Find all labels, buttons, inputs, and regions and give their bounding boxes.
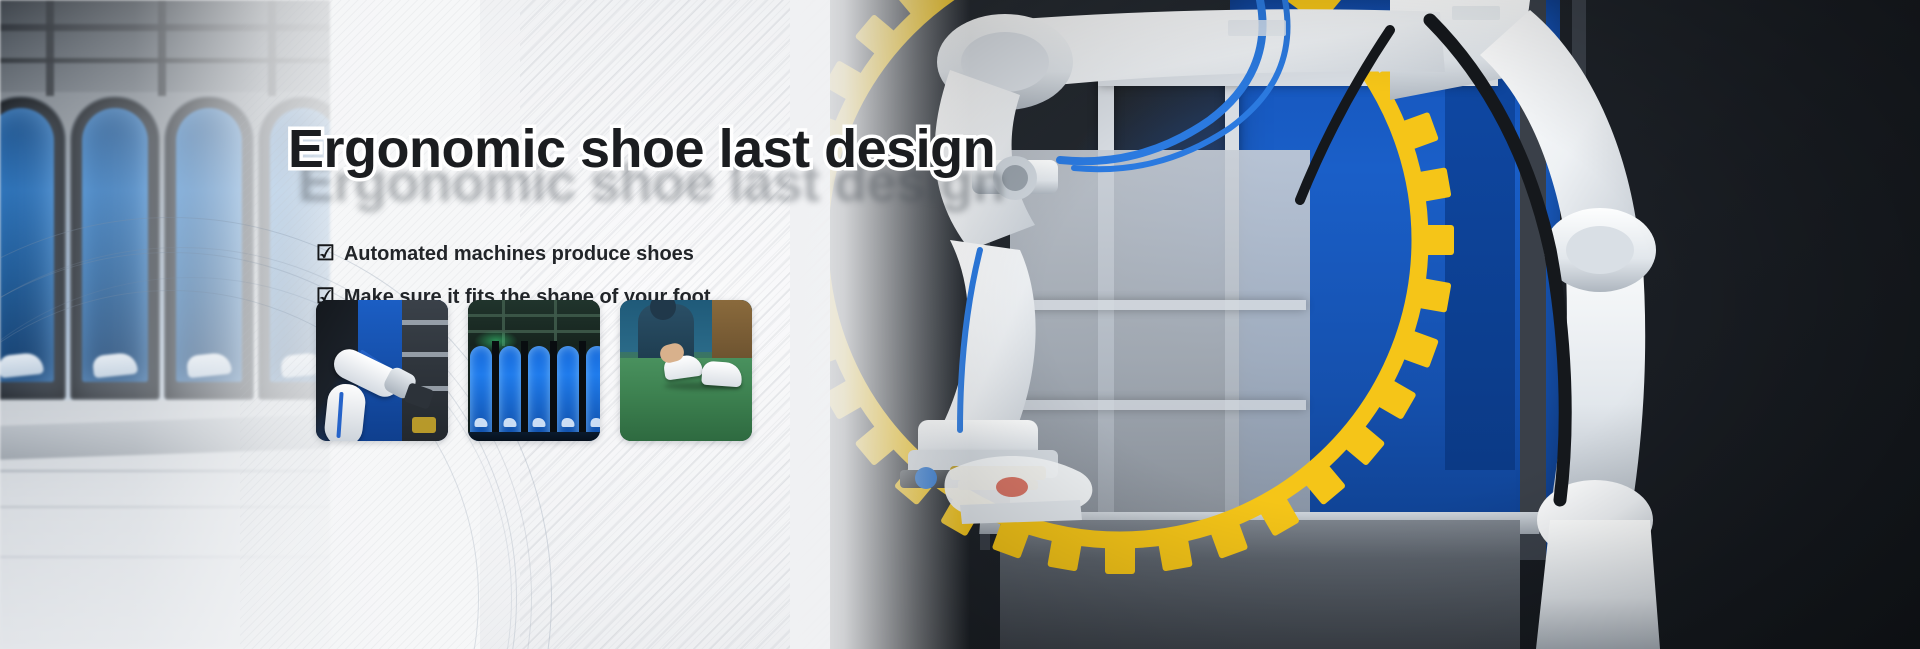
thumbnail-robot-arm[interactable] [316, 300, 448, 441]
page-title: Ergonomic shoe last design [288, 118, 995, 180]
list-item: ☑ Automated machines produce shoes [316, 243, 711, 266]
banner-content: Ergonomic shoe last design Ergonomic sho… [0, 0, 1000, 649]
thumbnail-worker-shoes[interactable] [620, 300, 752, 441]
headline-wrap: Ergonomic shoe last design Ergonomic sho… [288, 118, 928, 208]
list-item-label: Automated machines produce shoes [344, 243, 694, 266]
thumbnail-blue-cabinets[interactable] [468, 300, 600, 441]
checkbox-checked-icon: ☑ [316, 243, 335, 264]
promo-banner: Ergonomic shoe last design Ergonomic sho… [0, 0, 1920, 649]
thumbnail-row [316, 300, 752, 441]
